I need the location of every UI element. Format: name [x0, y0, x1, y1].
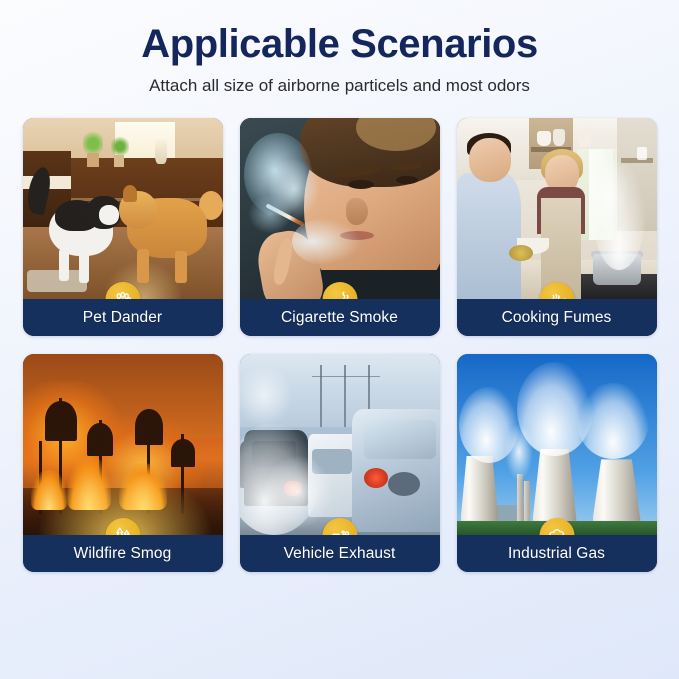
- scenario-label: Wildfire Smog: [74, 545, 172, 563]
- scenario-image-traffic-jam: [240, 354, 440, 535]
- scenario-label: Cooking Fumes: [502, 309, 612, 327]
- scenario-label: Vehicle Exhaust: [284, 545, 396, 563]
- scenario-label: Pet Dander: [83, 309, 162, 327]
- page-title: Applicable Scenarios: [0, 22, 679, 66]
- scenario-image-man-smoking: [240, 118, 440, 299]
- scenario-label-bar: Cooking Fumes: [457, 299, 657, 336]
- scenario-card-wildfire-smog[interactable]: Wildfire Smog: [23, 354, 223, 572]
- scenario-card-vehicle-exhaust[interactable]: Vehicle Exhaust: [240, 354, 440, 572]
- scenario-card-industrial-gas[interactable]: Industrial Gas: [457, 354, 657, 572]
- applicable-scenarios-page: Applicable Scenarios Attach all size of …: [0, 0, 679, 679]
- scenario-grid: Pet Dander: [22, 118, 657, 572]
- scenario-label-bar: Vehicle Exhaust: [240, 535, 440, 572]
- scenario-label: Industrial Gas: [508, 545, 605, 563]
- scenario-label-bar: Cigarette Smoke: [240, 299, 440, 336]
- scenario-image-forest-fire: [23, 354, 223, 535]
- scenario-card-pet-dander[interactable]: Pet Dander: [23, 118, 223, 336]
- page-subtitle: Attach all size of airborne particels an…: [0, 76, 679, 96]
- scenario-card-cigarette-smoke[interactable]: Cigarette Smoke: [240, 118, 440, 336]
- scenario-label: Cigarette Smoke: [281, 309, 398, 327]
- scenario-image-couple-cooking: [457, 118, 657, 299]
- scenario-image-cat-and-dog: [23, 118, 223, 299]
- scenario-label-bar: Wildfire Smog: [23, 535, 223, 572]
- scenario-image-cooling-towers: [457, 354, 657, 535]
- scenario-label-bar: Pet Dander: [23, 299, 223, 336]
- scenario-card-cooking-fumes[interactable]: Cooking Fumes: [457, 118, 657, 336]
- page-header: Applicable Scenarios Attach all size of …: [0, 0, 679, 96]
- scenario-label-bar: Industrial Gas: [457, 535, 657, 572]
